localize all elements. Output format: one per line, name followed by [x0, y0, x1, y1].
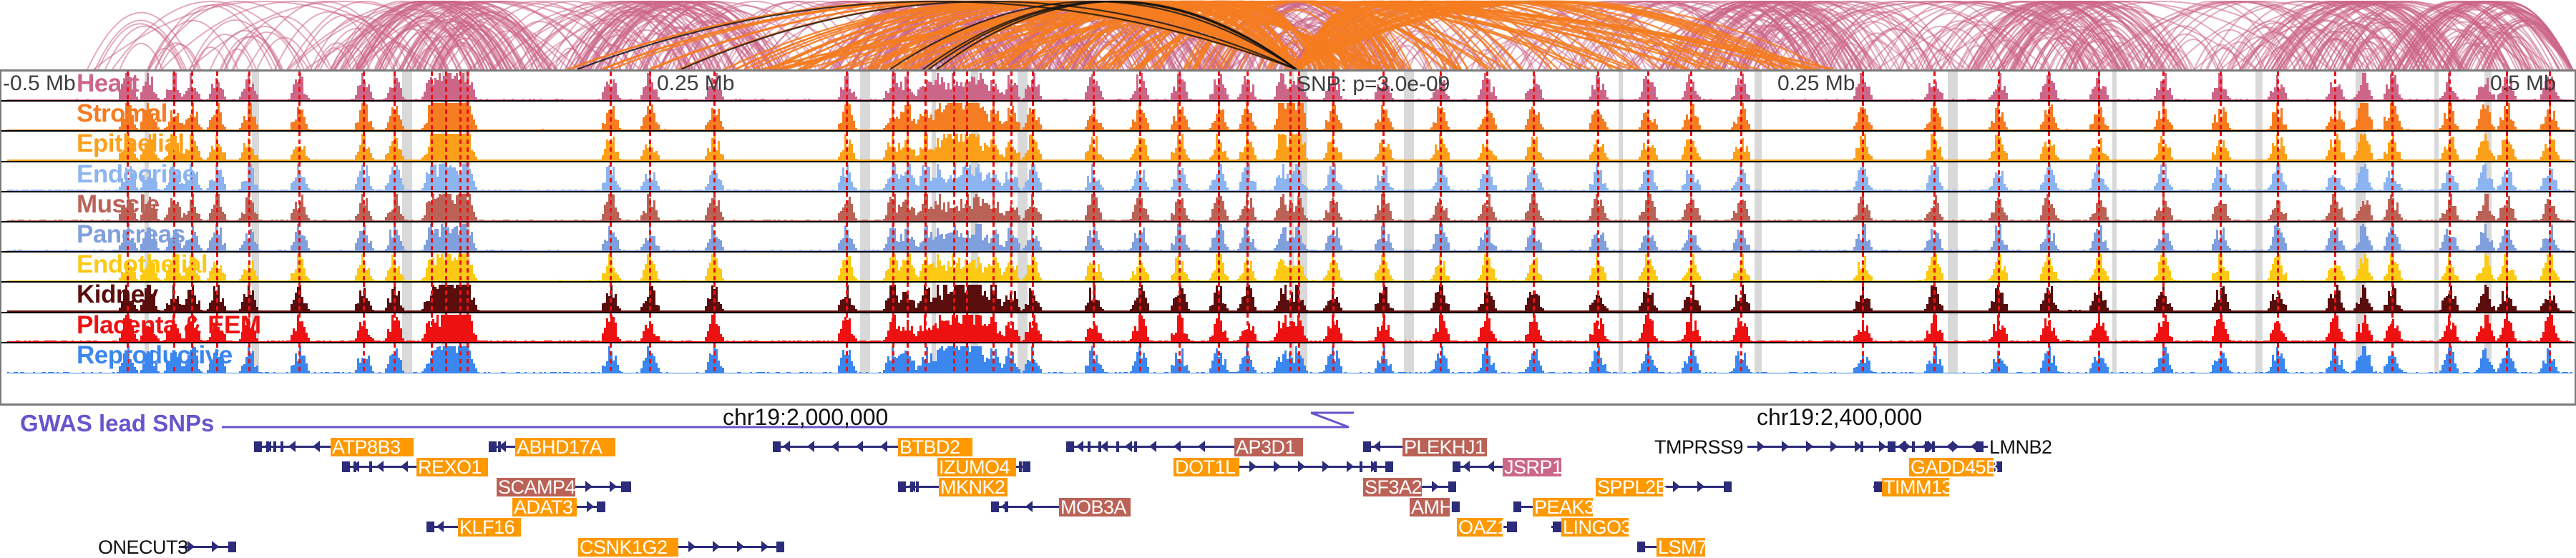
snp-marker-line	[2098, 132, 2100, 160]
snp-marker-line	[1862, 72, 1864, 100]
snp-marker-line	[924, 132, 927, 160]
track-stromal: Stromal	[1, 102, 2575, 132]
snp-marker-line	[1933, 132, 1936, 160]
snp-marker-line	[1933, 102, 1936, 130]
snp-marker-line	[298, 72, 301, 100]
snp-marker-line	[1032, 132, 1034, 160]
snp-marker-line	[924, 102, 927, 130]
snp-marker-line	[1647, 102, 1649, 130]
snp-marker-line	[953, 72, 955, 100]
snp-marker-line	[2048, 132, 2050, 160]
snp-marker-line	[1862, 102, 1864, 130]
snp-marker-line	[1010, 132, 1013, 160]
snp-marker-line	[467, 132, 469, 160]
snp-marker-line	[2162, 72, 2165, 100]
snp-marker-line	[1933, 72, 1936, 100]
snp-marker-line	[1289, 132, 1292, 160]
snp-marker-line	[216, 132, 218, 160]
snp-marker-line	[2334, 132, 2336, 160]
signal-profile	[1, 102, 2575, 130]
shaded-region	[2112, 102, 2117, 130]
snp-marker-line	[1218, 102, 1220, 130]
snp-marker-line	[191, 102, 193, 130]
snp-marker-line	[2506, 102, 2508, 130]
snp-marker-line	[191, 72, 193, 100]
shaded-region	[860, 102, 870, 130]
snp-marker-line	[1298, 102, 1300, 130]
snp-marker-line	[610, 102, 612, 130]
snp-marker-line	[2334, 72, 2336, 100]
snp-marker-line	[1382, 102, 1385, 130]
shaded-region	[2434, 102, 2439, 130]
snp-marker-line	[1998, 132, 2000, 160]
snp-marker-line	[1289, 102, 1292, 130]
snp-marker-line	[713, 132, 716, 160]
snp-marker-line	[1440, 72, 1442, 100]
snp-marker-line	[992, 102, 995, 130]
snp-marker-line	[1740, 72, 1742, 100]
signal-peak	[2570, 129, 2572, 130]
snp-marker-line	[1332, 102, 1335, 130]
shaded-region	[2255, 132, 2263, 160]
snp-marker-line	[966, 72, 968, 100]
snp-marker-line	[1139, 132, 1141, 160]
track-heart: Heart	[1, 72, 2575, 102]
snp-marker-line	[1382, 72, 1385, 100]
shaded-region	[2255, 162, 2263, 191]
snp-marker-line	[173, 132, 175, 160]
snp-marker-line	[892, 72, 894, 100]
shaded-region	[1755, 102, 1762, 130]
snp-marker-line	[2391, 102, 2394, 130]
chromatin-contact-arc-panel	[0, 0, 2576, 69]
snp-marker-line	[127, 72, 129, 100]
snp-marker-line	[2549, 72, 2551, 100]
shaded-region	[1948, 102, 1958, 130]
snp-marker-line	[2449, 72, 2451, 100]
snp-marker-line	[459, 72, 462, 100]
snp-marker-line	[610, 72, 612, 100]
shaded-region	[1619, 132, 1623, 160]
snp-marker-line	[173, 102, 175, 130]
celltype-track-stack: HeartStromalEpithelialEndocrineMusclePan…	[0, 69, 2576, 406]
snp-marker-line	[2162, 132, 2165, 160]
snp-marker-line	[1032, 102, 1034, 130]
shaded-region	[2434, 132, 2439, 160]
snp-marker-line	[1218, 72, 1220, 100]
snp-marker-line	[2334, 102, 2336, 130]
snp-marker-line	[1486, 102, 1488, 130]
snp-marker-line	[892, 102, 894, 130]
snp-marker-line	[2277, 132, 2279, 160]
track-endocrine: Endocrine	[1, 162, 2575, 192]
shaded-region	[1404, 162, 1414, 191]
signal-profile	[1, 72, 2575, 100]
snp-marker-line	[992, 72, 995, 100]
snp-marker-line	[1218, 132, 1220, 160]
snp-marker-line	[127, 102, 129, 130]
shaded-region	[1619, 72, 1623, 100]
snp-marker-line	[1179, 72, 1181, 100]
snp-marker-line	[1382, 132, 1385, 160]
shaded-region	[1619, 162, 1623, 191]
snp-marker-line	[2277, 102, 2279, 130]
shaded-region	[2112, 72, 2117, 100]
snp-marker-line	[467, 72, 469, 100]
snp-marker-line	[248, 72, 250, 100]
snp-marker-line	[216, 72, 218, 100]
shaded-region	[2434, 162, 2439, 191]
shaded-region	[1755, 72, 1762, 100]
snp-marker-line	[966, 132, 968, 160]
snp-marker-line	[248, 102, 250, 130]
snp-marker-line	[1440, 102, 1442, 130]
snp-marker-line	[1533, 102, 1535, 130]
snp-marker-line	[2506, 72, 2508, 100]
snp-marker-line	[1093, 72, 1095, 100]
shaded-region	[1755, 162, 1762, 191]
shaded-region	[2255, 72, 2263, 100]
snp-marker-line	[445, 132, 447, 160]
snp-marker-line	[649, 102, 651, 130]
snp-marker-line	[127, 132, 129, 160]
snp-marker-line	[610, 132, 612, 160]
snp-marker-line	[363, 132, 365, 160]
snp-marker-line	[2048, 72, 2050, 100]
shaded-region	[2112, 132, 2117, 160]
snp-marker-line	[1298, 132, 1300, 160]
snp-marker-line	[1690, 72, 1692, 100]
snp-marker-line	[2098, 72, 2100, 100]
shaded-region	[1948, 72, 1958, 100]
snp-marker-line	[2391, 132, 2394, 160]
snp-marker-line	[394, 72, 396, 100]
snp-marker-line	[298, 102, 301, 130]
snp-marker-line	[1690, 102, 1692, 130]
shaded-region	[860, 132, 870, 160]
shaded-region	[2112, 162, 2117, 191]
snp-marker-line	[846, 102, 848, 130]
snp-marker-line	[1179, 132, 1181, 160]
snp-marker-line	[2220, 132, 2222, 160]
snp-marker-line	[2391, 72, 2394, 100]
snp-marker-line	[1862, 132, 1864, 160]
snp-marker-line	[649, 72, 651, 100]
snp-marker-line	[2449, 132, 2451, 160]
snp-marker-line	[1246, 102, 1249, 130]
snp-marker-line	[1246, 72, 1249, 100]
snp-marker-line	[2549, 132, 2551, 160]
shaded-region	[2434, 72, 2439, 100]
snp-marker-line	[1533, 132, 1535, 160]
signal-profile	[1, 132, 2575, 160]
snp-marker-line	[713, 72, 716, 100]
snp-marker-line	[1010, 102, 1013, 130]
snp-marker-line	[907, 132, 909, 160]
snp-marker-line	[966, 102, 968, 130]
snp-marker-line	[445, 102, 447, 130]
snp-marker-line	[1486, 132, 1488, 160]
snp-marker-line	[459, 132, 462, 160]
snp-marker-line	[459, 102, 462, 130]
snp-marker-line	[1032, 72, 1034, 100]
snp-marker-line	[924, 72, 927, 100]
snp-marker-line	[953, 132, 955, 160]
snp-marker-line	[431, 132, 433, 160]
snp-marker-line	[298, 132, 301, 160]
snp-marker-line	[1998, 102, 2000, 130]
snp-marker-line	[1533, 72, 1535, 100]
snp-marker-line	[248, 132, 250, 160]
snp-marker-line	[2048, 102, 2050, 130]
track-epithelial: Epithelial	[1, 132, 2575, 162]
snp-marker-line	[2220, 72, 2222, 100]
snp-marker-line	[892, 132, 894, 160]
snp-marker-line	[1740, 132, 1742, 160]
snp-marker-line	[1597, 102, 1599, 130]
shaded-region	[1755, 132, 1762, 160]
snp-marker-line	[1246, 132, 1249, 160]
shaded-region	[2255, 102, 2263, 130]
snp-marker-line	[907, 102, 909, 130]
snp-marker-line	[2449, 102, 2451, 130]
snp-marker-line	[394, 102, 396, 130]
snp-marker-line	[1597, 132, 1599, 160]
snp-marker-line	[1998, 72, 2000, 100]
snp-marker-line	[445, 72, 447, 100]
snp-marker-line	[363, 72, 365, 100]
snp-marker-line	[1440, 132, 1442, 160]
snp-marker-line	[846, 132, 848, 160]
shaded-region	[1404, 72, 1414, 100]
shaded-region	[1948, 162, 1958, 191]
arc-svg	[0, 0, 2576, 69]
signal-profile	[1, 162, 2575, 191]
shaded-region	[1948, 132, 1958, 160]
snp-marker-line	[1093, 102, 1095, 130]
shaded-region	[860, 162, 870, 191]
snp-marker-line	[1093, 132, 1095, 160]
snp-marker-line	[1010, 72, 1013, 100]
snp-marker-line	[2277, 72, 2279, 100]
shaded-region	[860, 72, 870, 100]
snp-marker-line	[1139, 72, 1141, 100]
snp-marker-line	[1298, 72, 1300, 100]
snp-marker-line	[1690, 132, 1692, 160]
snp-marker-line	[1332, 132, 1335, 160]
snp-marker-line	[2220, 102, 2222, 130]
snp-marker-line	[713, 102, 716, 130]
snp-marker-line	[1289, 72, 1292, 100]
snp-marker-line	[1647, 72, 1649, 100]
snp-marker-line	[1179, 102, 1181, 130]
snp-marker-line	[907, 72, 909, 100]
snp-marker-line	[2506, 132, 2508, 160]
snp-marker-line	[992, 132, 995, 160]
shaded-region	[1404, 132, 1414, 160]
snp-marker-line	[1332, 72, 1335, 100]
snp-marker-line	[1486, 72, 1488, 100]
shaded-region	[1619, 102, 1623, 130]
snp-marker-line	[846, 72, 848, 100]
snp-marker-line	[191, 132, 193, 160]
snp-marker-line	[1740, 102, 1742, 130]
snp-marker-line	[2098, 102, 2100, 130]
snp-marker-line	[649, 132, 651, 160]
shaded-region	[1404, 102, 1414, 130]
signal-peak	[2570, 160, 2572, 160]
snp-marker-line	[953, 102, 955, 130]
snp-marker-line	[363, 102, 365, 130]
snp-marker-line	[2162, 102, 2165, 130]
snp-marker-line	[2549, 102, 2551, 130]
signal-peak	[2570, 99, 2572, 100]
snp-marker-line	[431, 72, 433, 100]
snp-marker-line	[1647, 132, 1649, 160]
snp-marker-line	[216, 102, 218, 130]
snp-marker-line	[431, 102, 433, 130]
snp-marker-line	[173, 72, 175, 100]
snp-marker-line	[1597, 72, 1599, 100]
snp-marker-line	[1139, 102, 1141, 130]
snp-marker-line	[394, 132, 396, 160]
snp-marker-line	[467, 102, 469, 130]
